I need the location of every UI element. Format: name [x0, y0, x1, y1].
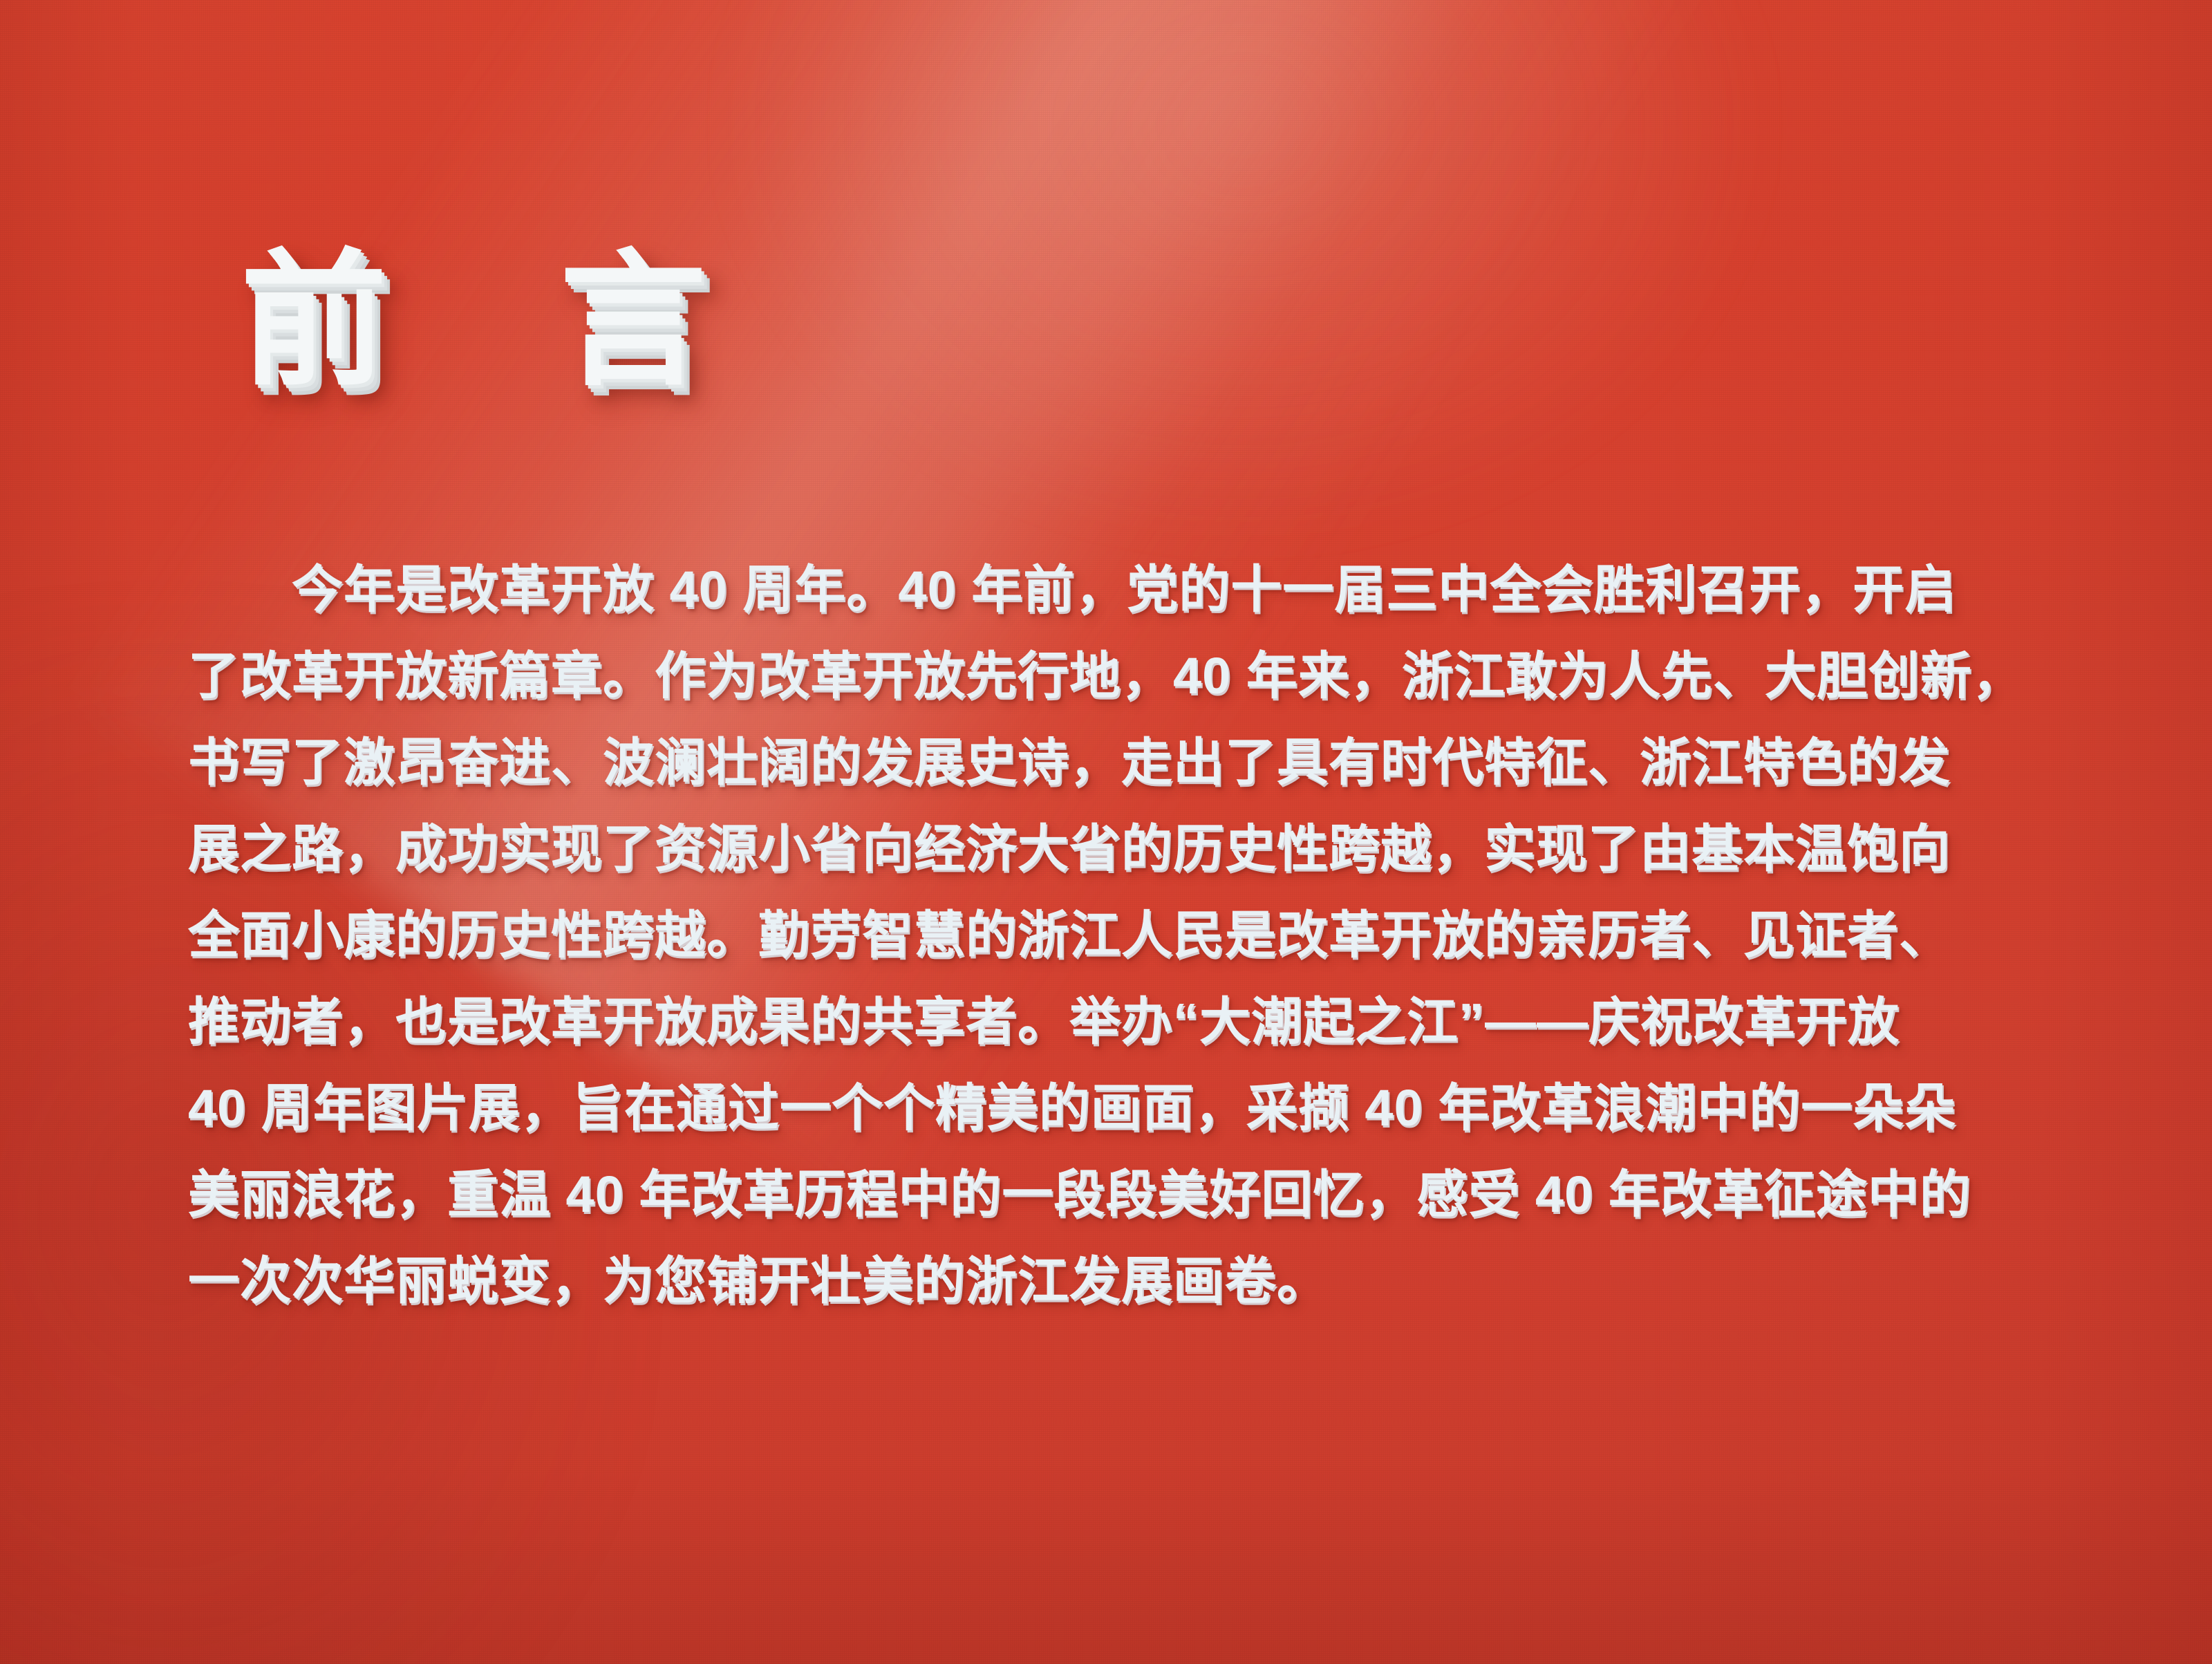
preface-line-text: 全面小康的历史性跨越。勤劳智慧的浙江人民是改革开放的亲历者、见证者、 — [188, 906, 1951, 964]
preface-line: 全面小康的历史性跨越。勤劳智慧的浙江人民是改革开放的亲历者、见证者、 — [188, 892, 2027, 978]
preface-line-text: 了改革开放新篇章。作为改革开放先行地，40 年来，浙江敢为人先、大胆创新， — [188, 647, 2024, 704]
preface-line-text: 推动者，也是改革开放成果的共享者。举办“大潮起之江”——庆祝改革开放 — [188, 993, 1900, 1050]
panel-content: 前 言 今年是改革开放 40 周年。40 年前，党的十一届三中全会胜利召开，开启… — [0, 0, 2212, 1664]
preface-body-text: 今年是改革开放 40 周年。40 年前，党的十一届三中全会胜利召开，开启 了改革… — [188, 546, 2027, 1324]
preface-line: 一次次华丽蜕变，为您铺开壮美的浙江发展画卷。 — [188, 1237, 2027, 1324]
preface-line-text: 一次次华丽蜕变，为您铺开壮美的浙江发展画卷。 — [188, 1252, 1329, 1309]
preface-line: 推动者，也是改革开放成果的共享者。举办“大潮起之江”——庆祝改革开放 — [188, 978, 2027, 1065]
page-title: 前 言 — [241, 243, 737, 399]
preface-line-text: 书写了激昂奋进、波澜壮阔的发展史诗，走出了具有时代特征、浙江特色的发 — [188, 733, 1951, 791]
preface-line: 40 周年图片展，旨在通过一个个精美的画面，采撷 40 年改革浪潮中的一朵朵 — [188, 1065, 2027, 1151]
preface-line-text: 美丽浪花，重温 40 年改革历程中的一段段美好回忆，感受 40 年改革征途中的 — [188, 1166, 1971, 1223]
preface-paragraph: 今年是改革开放 40 周年。40 年前，党的十一届三中全会胜利召开，开启 了改革… — [188, 546, 2027, 1324]
preface-line: 展之路，成功实现了资源小省向经济大省的历史性跨越，实现了由基本温饱向 — [188, 805, 2027, 892]
preface-line: 美丽浪花，重温 40 年改革历程中的一段段美好回忆，感受 40 年改革征途中的 — [188, 1151, 2027, 1237]
preface-line-text: 今年是改革开放 40 周年。40 年前，党的十一届三中全会胜利召开，开启 — [292, 561, 1956, 618]
exhibition-preface-panel: 前 言 今年是改革开放 40 周年。40 年前，党的十一届三中全会胜利召开，开启… — [0, 0, 2212, 1664]
preface-line: 今年是改革开放 40 周年。40 年前，党的十一届三中全会胜利召开，开启 — [188, 546, 2027, 633]
preface-line-text: 40 周年图片展，旨在通过一个个精美的画面，采撷 40 年改革浪潮中的一朵朵 — [188, 1079, 1956, 1137]
preface-line: 书写了激昂奋进、波澜壮阔的发展史诗，走出了具有时代特征、浙江特色的发 — [188, 719, 2027, 805]
preface-line: 了改革开放新篇章。作为改革开放先行地，40 年来，浙江敢为人先、大胆创新， — [188, 633, 2027, 719]
preface-line-text: 展之路，成功实现了资源小省向经济大省的历史性跨越，实现了由基本温饱向 — [188, 820, 1951, 877]
